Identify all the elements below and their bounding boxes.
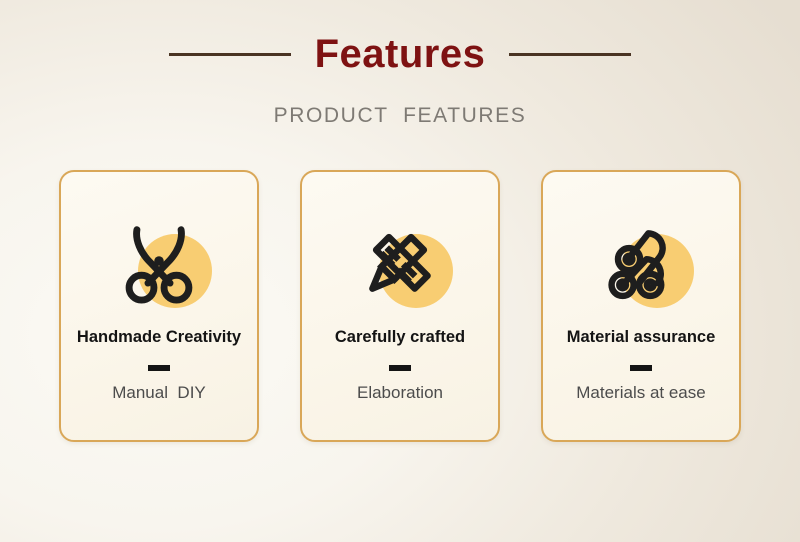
feature-icon-wrap (335, 206, 465, 316)
scissors-icon (113, 215, 205, 307)
feature-card-title: Handmade Creativity (77, 328, 241, 346)
feature-card-title: Material assurance (567, 328, 716, 346)
title-rule-right (509, 53, 631, 56)
title-rule-left (169, 53, 291, 56)
feature-icon-wrap (94, 206, 224, 316)
feature-card-title: Carefully crafted (335, 328, 465, 346)
features-section: Features PRODUCT FEATURES Handmade (0, 0, 800, 542)
ruler-pencil-icon (354, 215, 446, 307)
fabric-rolls-icon (595, 215, 687, 307)
feature-icon-wrap (576, 206, 706, 316)
feature-card[interactable]: Carefully crafted Elaboration (300, 170, 500, 442)
feature-card[interactable]: Handmade Creativity Manual DIY (59, 170, 259, 442)
feature-card-divider (389, 365, 411, 371)
section-header: Features PRODUCT FEATURES (0, 0, 800, 150)
page-title: Features (315, 34, 486, 74)
page-subtitle: PRODUCT FEATURES (0, 104, 800, 128)
title-row: Features (0, 26, 800, 82)
feature-card-subtitle: Materials at ease (576, 384, 705, 403)
feature-card-subtitle: Manual DIY (112, 384, 206, 403)
feature-card-divider (148, 365, 170, 371)
feature-card-divider (630, 365, 652, 371)
feature-card-list: Handmade Creativity Manual DIY (59, 170, 741, 442)
feature-card-subtitle: Elaboration (357, 384, 443, 403)
feature-card[interactable]: Material assurance Materials at ease (541, 170, 741, 442)
